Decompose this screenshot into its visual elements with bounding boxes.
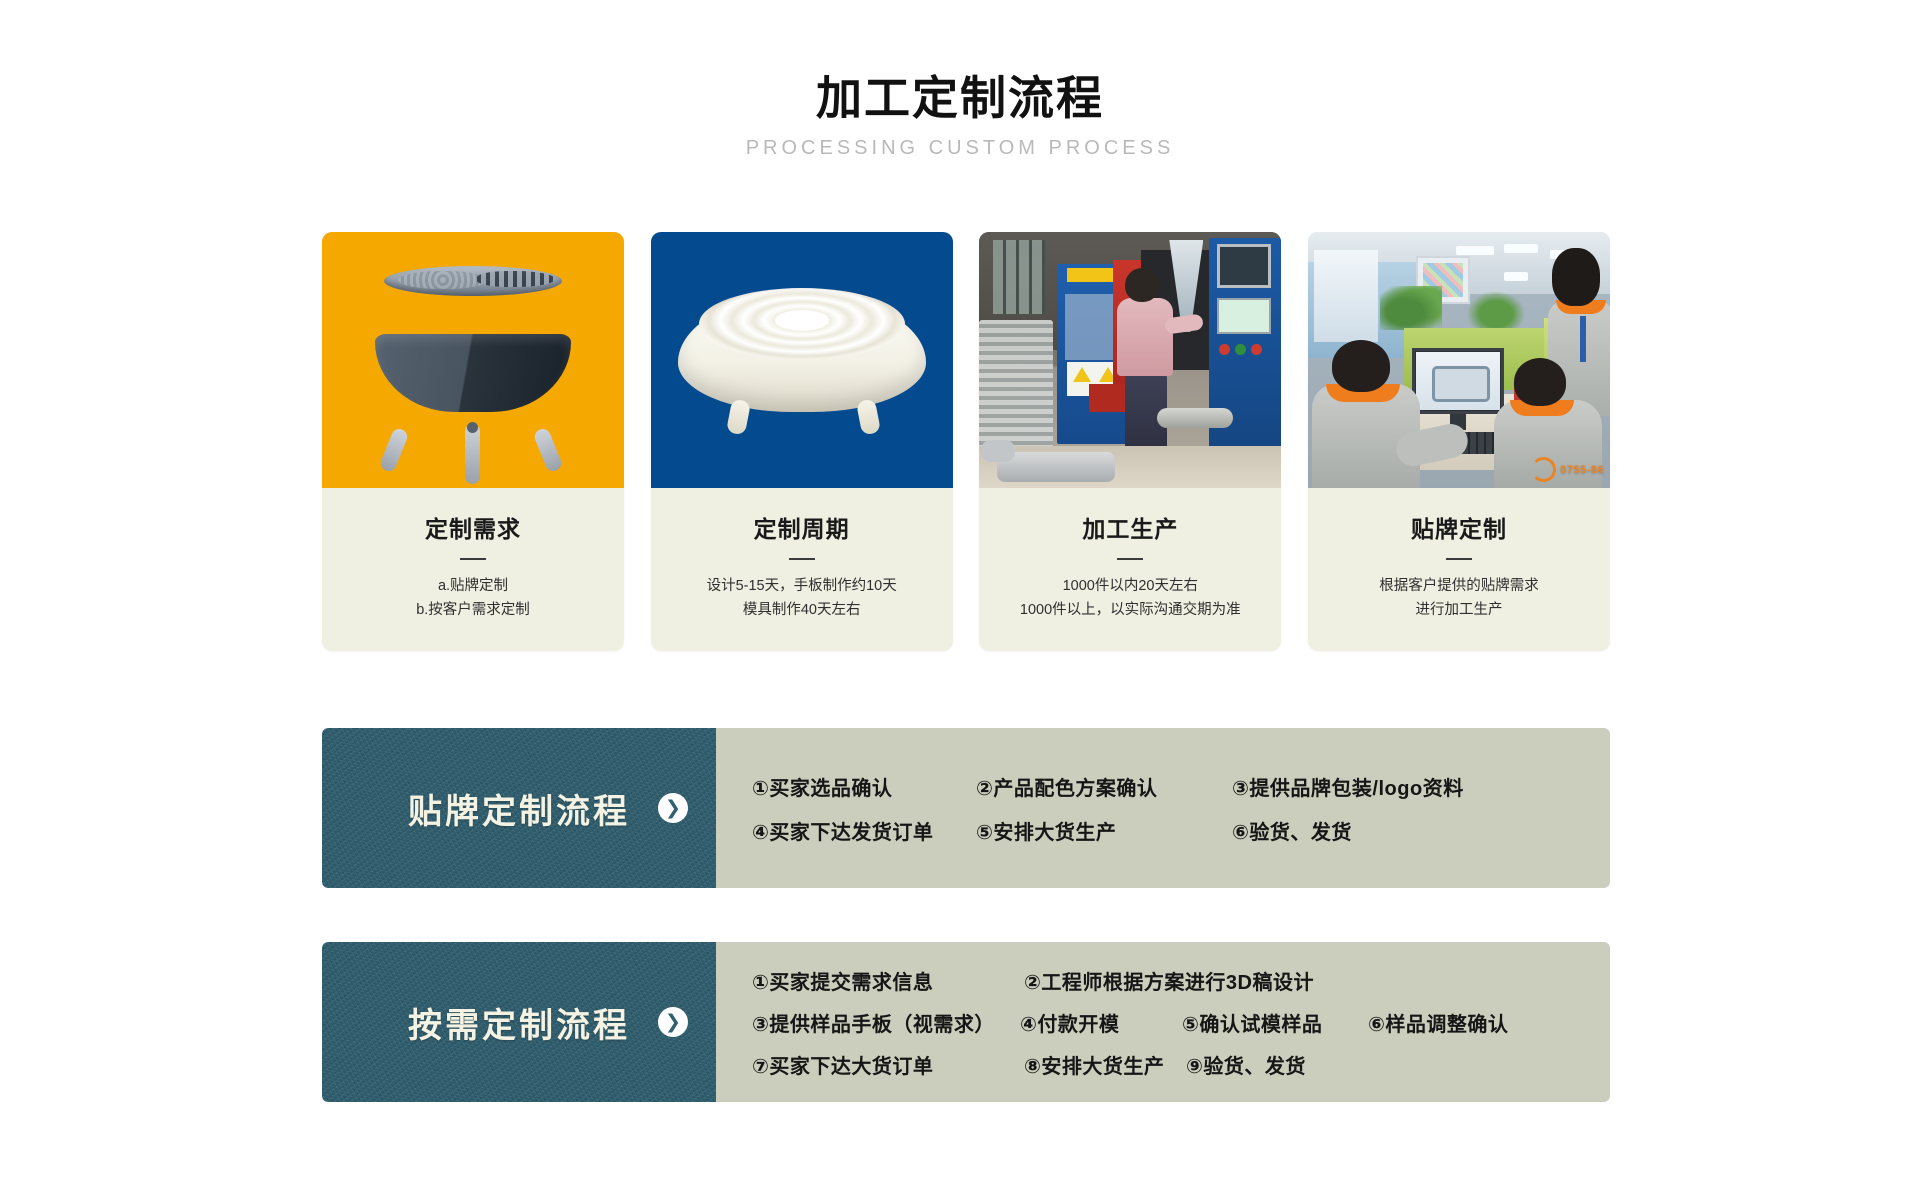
office-plant-1-shape [1380,286,1442,330]
ondemand-steps-row-3: ⑦买家下达大货订单 ⑧安排大货生产 ⑨验货、发货 [752,1043,1610,1085]
card-2-line-2: 模具制作40天左右 [665,599,939,623]
card-1-divider [460,558,486,560]
factory-main-screen-shape [1217,298,1271,334]
factory-molded-part-2-shape [981,440,1015,462]
grill-bowl-shape [375,334,571,412]
ondemand-step-9: ⑨验货、发货 [1186,1050,1306,1079]
ondemand-steps-row-2: ③提供样品手板（视需求） ④付款开模 ⑤确认试模样品 ⑥样品调整确认 [752,1001,1610,1043]
card-2-line-1: 设计5-15天，手板制作约10天 [665,575,939,599]
factory-molded-part-shape [997,452,1115,482]
office-ceiling-light-5-shape [1504,272,1528,281]
process-card-2[interactable]: 定制周期 设计5-15天，手板制作约10天 模具制作40天左右 [651,232,953,651]
ondemand-step-8: ⑧安排大货生产 [1024,1050,1186,1079]
card-4-line-2: 进行加工生产 [1322,599,1596,623]
oem-process-steps: ①买家选品确认 ②产品配色方案确认 ③提供品牌包装/logo资料 ④买家下达发货… [716,728,1610,888]
office-plant-2-shape [1468,292,1524,332]
ondemand-process-banner: 按需定制流程 ❯ ①买家提交需求信息 ②工程师根据方案进行3D稿设计 ③提供样品… [322,942,1610,1102]
page-subtitle: PROCESSING CUSTOM PROCESS [0,137,1920,160]
office-lanyard-shape [1580,316,1586,362]
process-card-1[interactable]: 定制需求 a.贴牌定制 b.按客户需求定制 [322,232,624,651]
oem-process-banner: 贴牌定制流程 ❯ ①买家选品确认 ②产品配色方案确认 ③提供品牌包装/logo资… [322,728,1610,888]
card-1-body: 定制需求 a.贴牌定制 b.按客户需求定制 [322,488,624,651]
ondemand-step-6: ⑥样品调整确认 [1368,1008,1508,1037]
grill-leg-left-shape [378,427,409,474]
oem-process-label: 贴牌定制流程 [408,784,630,833]
process-card-3[interactable]: 加工生产 1000件以内20天左右 1000件以上，以实际沟通交期为准 [979,232,1281,651]
oem-step-6: ⑥验货、发货 [1232,816,1352,845]
card-4-image-office-photo: 0755-86 [1308,232,1610,488]
oem-step-5: ⑤安排大货生产 [976,816,1232,845]
office-person-1-head-shape [1332,340,1390,392]
oem-steps-row-1: ①买家选品确认 ②产品配色方案确认 ③提供品牌包装/logo资料 [752,764,1610,808]
oem-step-3: ③提供品牌包装/logo资料 [1232,772,1464,801]
factory-window-shape [993,240,1045,314]
oem-process-label-panel: 贴牌定制流程 ❯ [322,728,716,888]
oem-step-4: ④买家下达发货订单 [752,816,976,845]
process-cards: 定制需求 a.贴牌定制 b.按客户需求定制 定制周期 设计5-15天，手板制作约… [322,232,1610,651]
factory-worker-body-shape [1117,298,1173,376]
exploded-grill-illustration [322,232,624,488]
ondemand-step-2: ②工程师根据方案进行3D稿设计 [1024,966,1314,995]
card-3-line-2: 1000件以上，以实际沟通交期为准 [993,599,1267,623]
card-3-body: 加工生产 1000件以内20天左右 1000件以上，以实际沟通交期为准 [979,488,1281,651]
prototype-maze-top-shape [699,288,905,360]
card-4-body: 贴牌定制 根据客户提供的贴牌需求 进行加工生产 [1308,488,1610,651]
card-4-line-1: 根据客户提供的贴牌需求 [1322,575,1596,599]
grill-leg-right-shape [532,427,563,474]
card-1-image-exploded-product [322,232,624,488]
page-title: 加工定制流程 [0,72,1920,125]
card-4-divider [1446,558,1472,560]
office-person-2-head-shape [1514,358,1566,406]
ondemand-step-4: ④付款开模 [1020,1008,1182,1037]
ondemand-steps-row-1: ①买家提交需求信息 ②工程师根据方案进行3D稿设计 [752,959,1610,1001]
office-photo-watermark: 0755-86 [1531,457,1604,482]
card-3-image-factory-photo [979,232,1281,488]
oem-step-1: ①买家选品确认 [752,772,976,801]
card-3-divider [1117,558,1143,560]
factory-worker-head-shape [1125,268,1159,302]
ondemand-process-label-panel: 按需定制流程 ❯ [322,942,716,1102]
page-header: 加工定制流程 PROCESSING CUSTOM PROCESS [0,0,1920,160]
card-4-title: 贴牌定制 [1322,510,1596,544]
factory-upper-screen-shape [1217,244,1271,288]
ondemand-step-5: ⑤确认试模样品 [1182,1008,1368,1037]
card-2-body: 定制周期 设计5-15天，手板制作约10天 模具制作40天左右 [651,488,953,651]
card-2-image-white-prototype [651,232,953,488]
prototype-illustration [651,232,953,488]
office-person-3-head-shape [1552,248,1600,306]
ondemand-process-steps: ①买家提交需求信息 ②工程师根据方案进行3D稿设计 ③提供样品手板（视需求） ④… [716,942,1610,1102]
page-root: 加工定制流程 PROCESSING CUSTOM PROCESS 定制需求 a.… [0,0,1920,1200]
card-2-divider [789,558,815,560]
grill-lid-shape [384,266,562,296]
card-1-title: 定制需求 [336,510,610,544]
watermark-ring-icon [1531,457,1556,482]
office-ceiling-light-1-shape [1456,246,1494,255]
office-ceiling-light-2-shape [1504,244,1538,253]
card-1-line-1: a.贴牌定制 [336,575,610,599]
process-card-4[interactable]: 0755-86 贴牌定制 根据客户提供的贴牌需求 进行加工生产 [1308,232,1610,651]
ondemand-process-label: 按需定制流程 [408,998,630,1047]
prototype-foot-right-shape [856,398,881,435]
ondemand-step-7: ⑦买家下达大货订单 [752,1050,1024,1079]
office-window-shape [1314,250,1378,342]
chevron-right-icon[interactable]: ❯ [658,793,688,823]
ondemand-step-1: ①买家提交需求信息 [752,966,1024,995]
grill-leg-center-shape [465,424,480,484]
oem-steps-row-2: ④买家下达发货订单 ⑤安排大货生产 ⑥验货、发货 [752,808,1610,852]
office-cad-screen-shape [1416,352,1500,410]
chevron-right-icon[interactable]: ❯ [658,1007,688,1037]
card-1-line-2: b.按客户需求定制 [336,599,610,623]
oem-step-2: ②产品配色方案确认 [976,772,1232,801]
card-3-title: 加工生产 [993,510,1267,544]
ondemand-step-3: ③提供样品手板（视需求） [752,1008,1020,1037]
watermark-text: 0755-86 [1560,464,1604,476]
factory-pipe-shape [1157,408,1233,428]
card-2-title: 定制周期 [665,510,939,544]
card-3-line-1: 1000件以内20天左右 [993,575,1267,599]
